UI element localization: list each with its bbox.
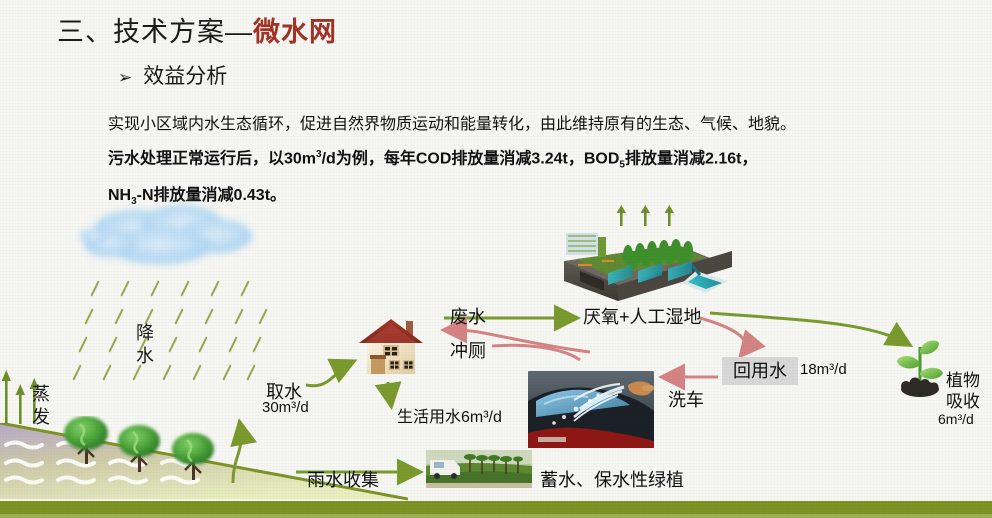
wetland-label: 厌氧+人工湿地	[583, 303, 702, 329]
plant-uptake-line1: 植物	[946, 371, 980, 390]
toilet-flush-label: 冲厕	[450, 337, 486, 363]
car-wash-label: 洗车	[668, 386, 704, 412]
plant-uptake-value: 6m³/d	[938, 411, 974, 427]
rain-collection-label: 雨水收集	[307, 466, 379, 492]
flow-arrows	[0, 0, 992, 518]
green-retention-label: 蓄水、保水性绿植	[540, 466, 684, 492]
intake-value: 30m³/d	[262, 399, 309, 416]
diagram-canvas: 降水 蒸发	[0, 0, 992, 518]
wastewater-label: 废水	[450, 303, 486, 329]
footer-bar-sheen	[0, 514, 992, 518]
reclaimed-water-badge: 回用水	[722, 357, 798, 385]
reclaimed-water-value: 18m³/d	[800, 361, 847, 378]
plant-uptake-line2: 吸收	[946, 392, 980, 411]
footer-bar	[0, 501, 992, 518]
plant-uptake-label: 植物 吸收	[946, 370, 980, 412]
domestic-use-label: 生活用水6m³/d	[397, 403, 502, 427]
